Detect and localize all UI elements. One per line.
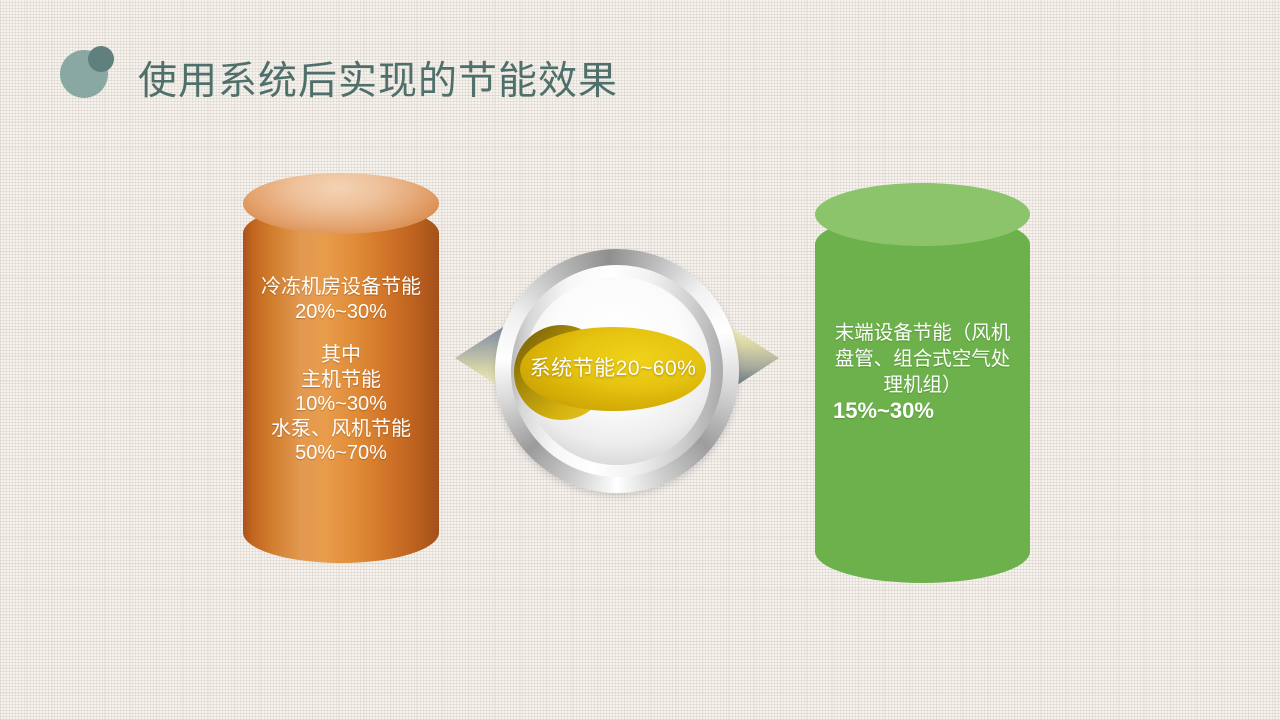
right-cylinder-value: 15%~30% [815, 398, 952, 424]
right-cylinder-top-ellipse [815, 183, 1030, 246]
center-label: 系统节能20~60% [530, 357, 697, 381]
left-cylinder-sub-label: 其中 主机节能 10%~30% 水泵、风机节能 50%~70% [243, 343, 439, 466]
gold-front-ellipse: 系统节能20~60% [520, 327, 706, 411]
right-cylinder: 末端设备节能（风机盘管、组合式空气处理机组） 15%~30% [815, 213, 1030, 583]
center-badge: 系统节能20~60% [455, 249, 779, 495]
logo [60, 46, 114, 100]
left-cylinder-label: 冷冻机房设备节能 20%~30% [243, 275, 439, 324]
left-cylinder-top-ellipse [243, 173, 439, 234]
logo-small-circle-icon [88, 46, 114, 72]
page-title: 使用系统后实现的节能效果 [138, 57, 618, 107]
right-cylinder-label: 末端设备节能（风机盘管、组合式空气处理机组） [815, 320, 1030, 398]
left-cylinder: 冷冻机房设备节能 20%~30% 其中 主机节能 10%~30% 水泵、风机节能… [243, 203, 439, 563]
slide-canvas: 使用系统后实现的节能效果 冷冻机房设备节能 20%~30% 其中 主机节能 10… [0, 0, 1280, 720]
